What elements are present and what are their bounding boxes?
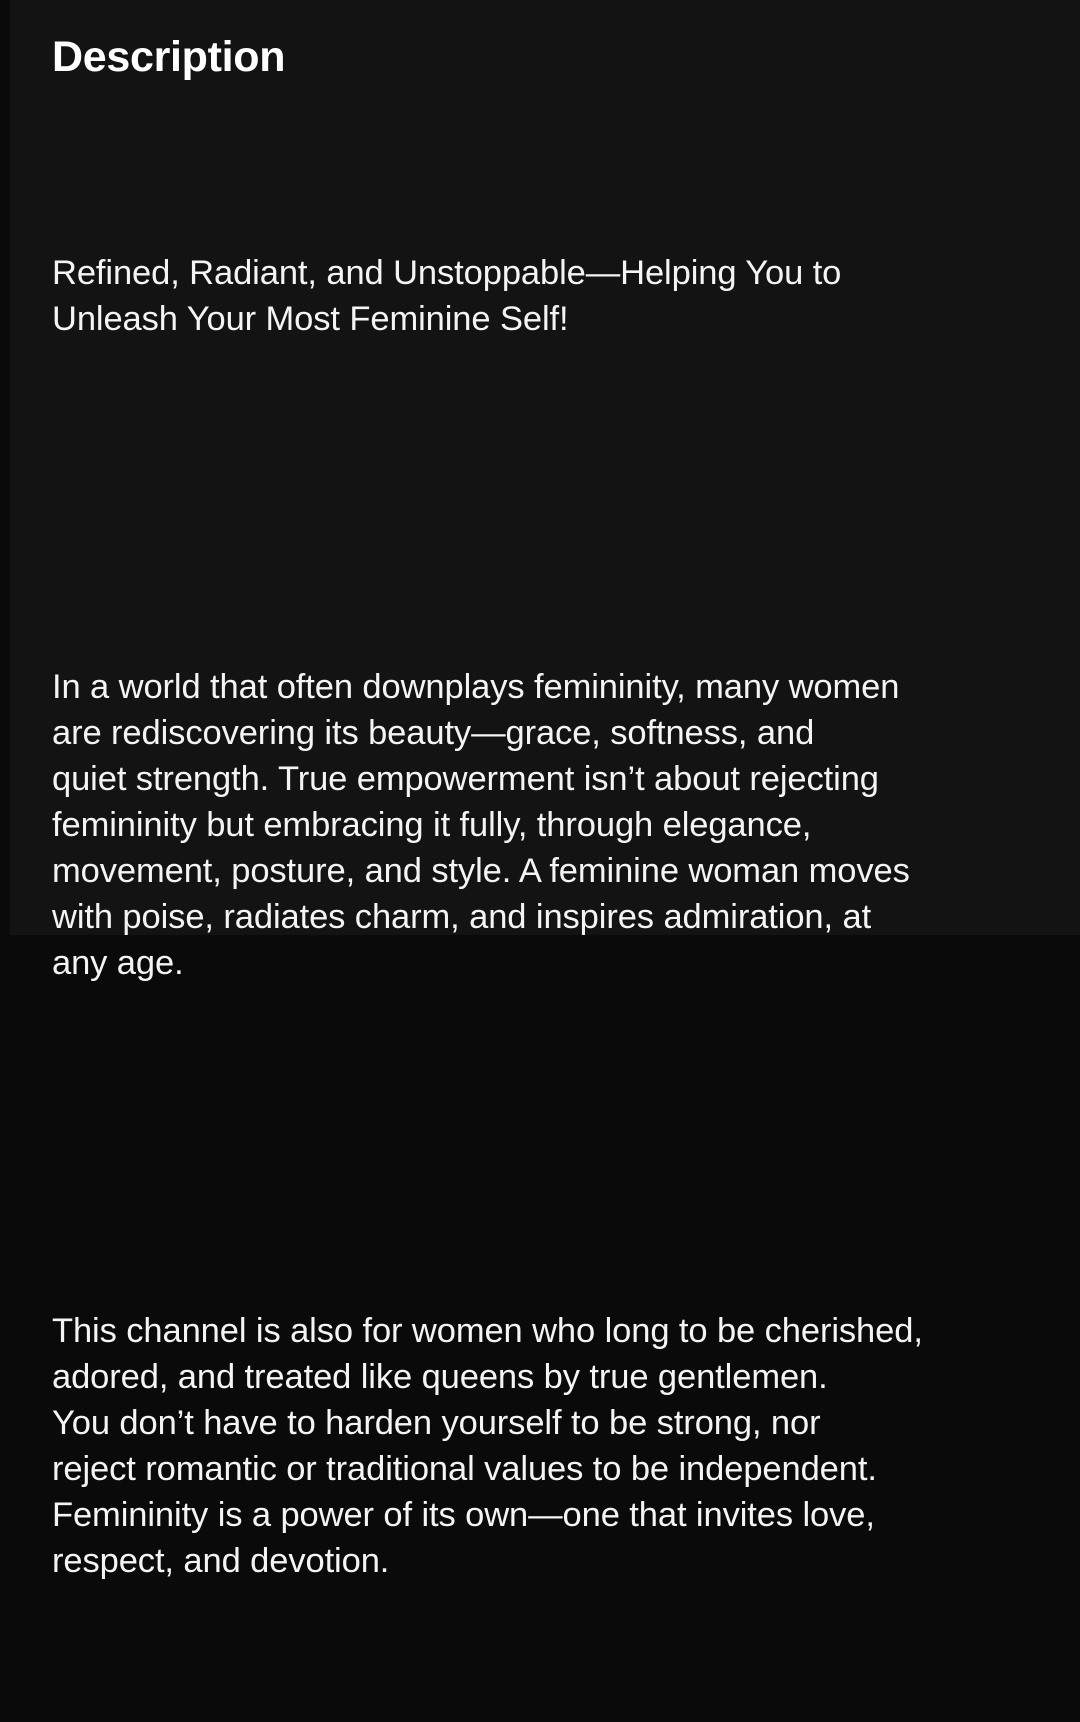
description-screen: Description Refined, Radiant, and Unstop… [0, 0, 1080, 935]
description-paragraph: In a world that often downplays feminini… [52, 664, 1062, 986]
page-title: Description [52, 36, 285, 79]
description-panel: Description Refined, Radiant, and Unstop… [10, 0, 1080, 935]
description-paragraph: This channel is also for women who long … [52, 1308, 1062, 1584]
paragraph-spacer [52, 1124, 1062, 1170]
description-text-body: Refined, Radiant, and Unstoppable—Helpin… [52, 112, 1062, 1722]
description-paragraph: Refined, Radiant, and Unstoppable—Helpin… [52, 250, 1062, 342]
paragraph-spacer [52, 480, 1062, 526]
